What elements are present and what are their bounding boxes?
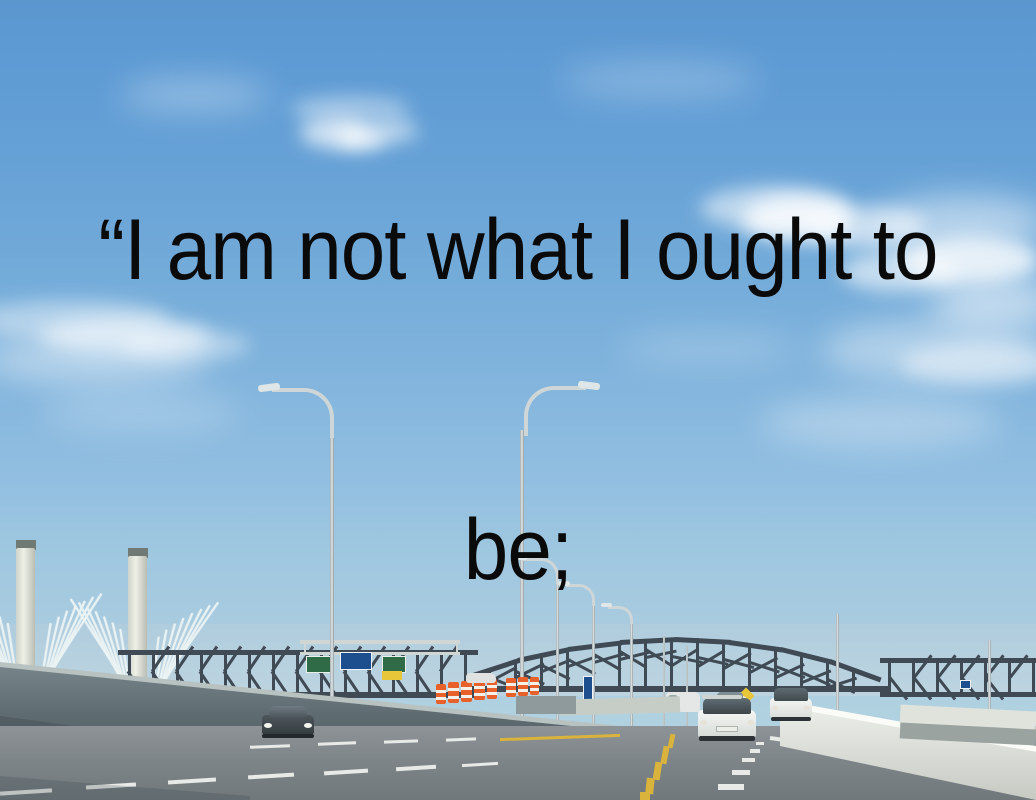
quote-image: “I am not what I ought to be; I am not w… — [0, 0, 1036, 800]
quote-line-2: be; — [46, 500, 991, 600]
quote-overlay: “I am not what I ought to be; I am not w… — [36, 0, 999, 800]
quote-line-1: “I am not what I ought to — [46, 200, 991, 300]
